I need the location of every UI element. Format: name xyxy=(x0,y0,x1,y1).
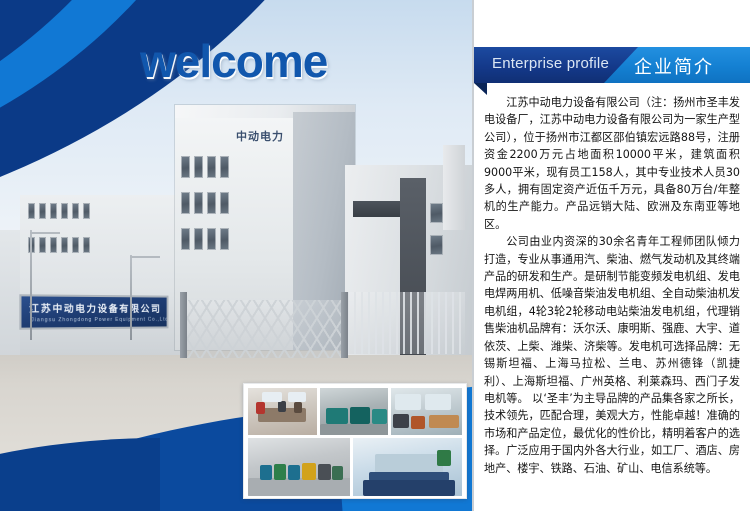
window xyxy=(194,192,203,214)
hero-image-panel: 中动电力 江苏中动电力设备有限公司 Jiangsu Zhongdong Powe… xyxy=(0,0,472,511)
light-pole xyxy=(30,230,32,340)
light-arm xyxy=(30,232,60,234)
light-pole xyxy=(130,255,132,340)
window xyxy=(28,203,35,219)
collage-top-row xyxy=(248,388,462,435)
window xyxy=(61,203,68,219)
window xyxy=(194,228,203,250)
wall-sign-english-text: Jiangsu Zhongdong Power Equipment Co.,Lt… xyxy=(31,317,168,324)
profile-paragraph-1: 江苏中动电力设备有限公司（注：扬州市圣丰发电设备厂，江苏中动电力设备有限公司为一… xyxy=(484,94,740,233)
welcome-wordmark: welcome xyxy=(140,34,327,88)
window xyxy=(181,192,190,214)
window xyxy=(207,192,216,214)
section-banner: Enterprise profile 企业简介 xyxy=(474,47,750,83)
window xyxy=(220,228,229,250)
wall-sign-chinese-text: 江苏中动电力设备有限公司 xyxy=(29,301,161,316)
gate-post xyxy=(180,292,187,358)
window xyxy=(72,203,79,219)
meeting-room-photo xyxy=(248,388,317,435)
window xyxy=(207,156,216,178)
chimney-tower xyxy=(443,145,465,230)
window xyxy=(39,237,46,253)
building-roof-sign: 中动电力 xyxy=(236,128,284,144)
window xyxy=(181,156,190,178)
gate-post xyxy=(341,292,348,358)
office-interior-photo xyxy=(391,388,462,435)
window xyxy=(194,156,203,178)
window xyxy=(220,156,229,178)
window xyxy=(83,203,90,219)
window xyxy=(430,203,443,223)
light-arm xyxy=(130,256,160,258)
retractable-gate xyxy=(185,300,345,358)
collage-bottom-row xyxy=(248,438,462,496)
company-profile-text: 江苏中动电力设备有限公司（注：扬州市圣丰发电设备厂，江苏中动电力设备有限公司为一… xyxy=(484,94,740,494)
window xyxy=(50,203,57,219)
banner-english-label: Enterprise profile xyxy=(492,55,609,72)
banner-chinese-label: 企业简介 xyxy=(634,53,714,79)
generator-assembly-photo xyxy=(320,388,389,435)
window xyxy=(72,237,79,253)
window xyxy=(83,237,90,253)
conference-room-photo xyxy=(353,438,462,496)
left-building-block xyxy=(20,195,185,355)
window xyxy=(430,235,443,255)
window xyxy=(207,228,216,250)
window xyxy=(181,228,190,250)
window xyxy=(220,192,229,214)
photo-collage xyxy=(243,383,467,499)
bottom-navy-swoosh-inner xyxy=(0,438,160,511)
workshop-generators-photo xyxy=(248,438,350,496)
window xyxy=(50,237,57,253)
profile-content-panel: Enterprise profile 企业简介 江苏中动电力设备有限公司（注：扬… xyxy=(472,0,750,511)
hall-window-band xyxy=(353,201,405,217)
secondary-gate xyxy=(347,292,465,354)
window xyxy=(61,237,68,253)
profile-paragraph-2: 公司由业内资深的30余名青年工程师团队倾力打造，专业从事通用汽、柴油、燃气发动机… xyxy=(484,233,740,477)
factory-wall-sign: 江苏中动电力设备有限公司 Jiangsu Zhongdong Power Equ… xyxy=(19,294,168,329)
company-profile-banner: 中动电力 江苏中动电力设备有限公司 Jiangsu Zhongdong Powe… xyxy=(0,0,750,511)
window xyxy=(39,203,46,219)
